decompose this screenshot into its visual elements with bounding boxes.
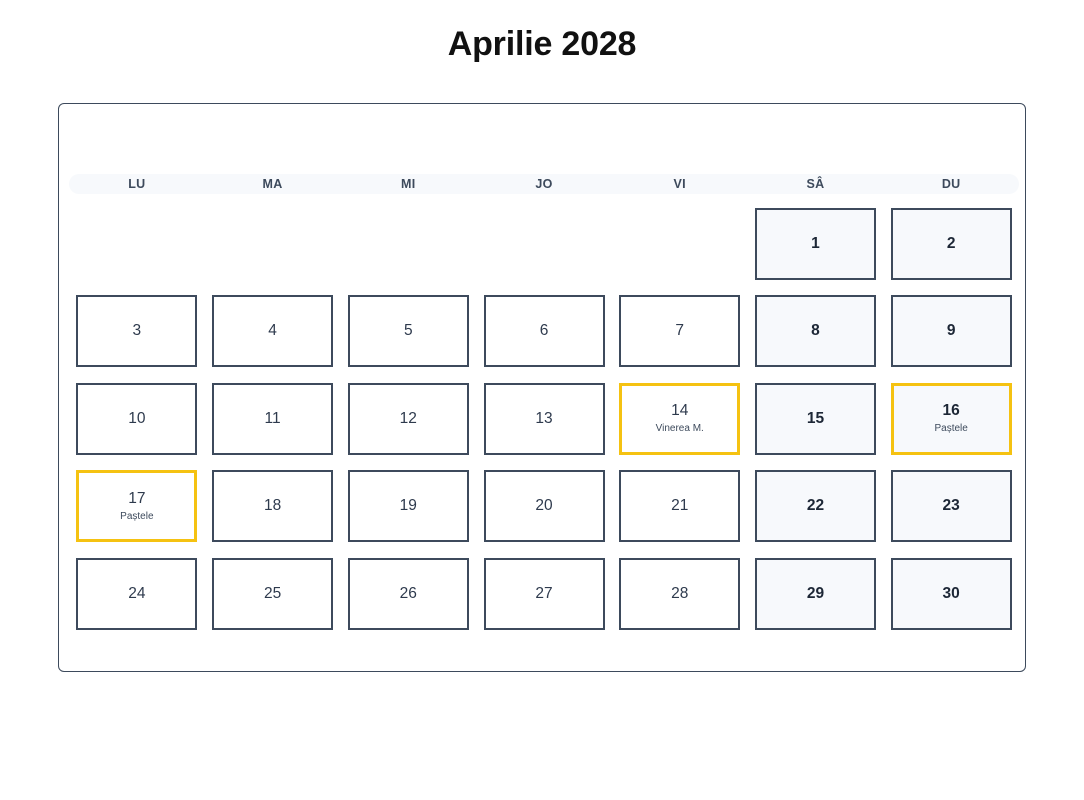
day-cell[interactable]: 5	[348, 295, 469, 367]
day-slot: 1	[748, 200, 884, 288]
day-number: 23	[943, 497, 960, 515]
day-number: 17	[128, 490, 145, 508]
day-slot: 28	[612, 550, 748, 638]
day-slot: 8	[748, 288, 884, 376]
weekday-header-1: MA	[205, 174, 341, 194]
day-cell[interactable]: 21	[619, 470, 740, 542]
day-slot: 9	[883, 288, 1019, 376]
day-cell[interactable]: 27	[484, 558, 605, 630]
day-number: 4	[268, 322, 277, 340]
day-cell[interactable]: 19	[348, 470, 469, 542]
day-number: 3	[133, 322, 142, 340]
day-number: 12	[400, 410, 417, 428]
day-slot: 11	[205, 375, 341, 463]
day-slot: 21	[612, 463, 748, 551]
day-cell[interactable]: 14Vinerea M.	[619, 383, 740, 455]
day-slot: 6	[476, 288, 612, 376]
weekday-header-row: LUMAMIJOVISÂDU	[69, 174, 1019, 194]
week-row: 1011121314Vinerea M.1516Paștele	[69, 375, 1019, 463]
day-number: 10	[128, 410, 145, 428]
day-number: 22	[807, 497, 824, 515]
day-cell[interactable]: 18	[212, 470, 333, 542]
day-number: 19	[400, 497, 417, 515]
day-cell[interactable]: 24	[76, 558, 197, 630]
day-cell[interactable]: 22	[755, 470, 876, 542]
calendar-page: Aprilie 2028 LUMAMIJOVISÂDU 123456789101…	[0, 0, 1084, 800]
day-number: 18	[264, 497, 281, 515]
week-row: 17Paștele181920212223	[69, 463, 1019, 551]
day-cell[interactable]: 28	[619, 558, 740, 630]
day-slot: 16Paștele	[883, 375, 1019, 463]
day-cell[interactable]: 7	[619, 295, 740, 367]
day-cell[interactable]: 9	[891, 295, 1012, 367]
day-slot: 2	[883, 200, 1019, 288]
day-slot: 12	[340, 375, 476, 463]
day-slot: 15	[748, 375, 884, 463]
weekday-header-5: SÂ	[748, 174, 884, 194]
day-number: 26	[400, 585, 417, 603]
weekday-header-0: LU	[69, 174, 205, 194]
day-number: 30	[943, 585, 960, 603]
day-cell[interactable]: 16Paștele	[891, 383, 1012, 455]
day-number: 6	[540, 322, 549, 340]
day-cell[interactable]: 1	[755, 208, 876, 280]
day-cell[interactable]: 3	[76, 295, 197, 367]
day-slot: 5	[340, 288, 476, 376]
day-number: 25	[264, 585, 281, 603]
day-number: 28	[671, 585, 688, 603]
day-cell[interactable]: 2	[891, 208, 1012, 280]
day-cell-empty	[484, 208, 605, 280]
day-cell[interactable]: 30	[891, 558, 1012, 630]
day-cell-empty	[348, 208, 469, 280]
day-number: 15	[807, 410, 824, 428]
day-number: 9	[947, 322, 956, 340]
day-cell[interactable]: 11	[212, 383, 333, 455]
day-cell-empty	[76, 208, 197, 280]
day-cell[interactable]: 29	[755, 558, 876, 630]
day-cell[interactable]: 6	[484, 295, 605, 367]
day-slot: 17Paștele	[69, 463, 205, 551]
day-cell[interactable]: 8	[755, 295, 876, 367]
day-number: 11	[265, 410, 281, 428]
day-slot	[612, 200, 748, 288]
weekday-header-3: JO	[476, 174, 612, 194]
day-cell[interactable]: 25	[212, 558, 333, 630]
day-slot: 14Vinerea M.	[612, 375, 748, 463]
page-title: Aprilie 2028	[0, 22, 1084, 66]
day-number: 24	[128, 585, 145, 603]
week-row: 24252627282930	[69, 550, 1019, 638]
day-slot: 30	[883, 550, 1019, 638]
weekday-header-4: VI	[612, 174, 748, 194]
holiday-label: Paștele	[934, 422, 967, 435]
day-slot: 29	[748, 550, 884, 638]
day-slot: 24	[69, 550, 205, 638]
day-slot	[340, 200, 476, 288]
day-slot: 13	[476, 375, 612, 463]
week-row: 3456789	[69, 288, 1019, 376]
day-cell[interactable]: 10	[76, 383, 197, 455]
day-cell[interactable]: 17Paștele	[76, 470, 197, 542]
day-number: 29	[807, 585, 824, 603]
day-number: 1	[811, 235, 820, 253]
day-slot	[476, 200, 612, 288]
weekday-header-2: MI	[340, 174, 476, 194]
day-slot: 26	[340, 550, 476, 638]
day-cell[interactable]: 20	[484, 470, 605, 542]
day-slot: 20	[476, 463, 612, 551]
day-number: 21	[671, 497, 688, 515]
day-slot: 18	[205, 463, 341, 551]
day-slot: 22	[748, 463, 884, 551]
day-number: 16	[943, 402, 960, 420]
day-slot: 3	[69, 288, 205, 376]
day-cell[interactable]: 23	[891, 470, 1012, 542]
calendar-weeks: 1234567891011121314Vinerea M.1516Paștele…	[69, 200, 1019, 638]
day-slot: 23	[883, 463, 1019, 551]
day-number: 7	[675, 322, 684, 340]
day-number: 14	[671, 402, 688, 420]
day-number: 2	[947, 235, 956, 253]
day-cell[interactable]: 4	[212, 295, 333, 367]
holiday-label: Vinerea M.	[656, 422, 704, 435]
day-cell-empty	[619, 208, 740, 280]
day-cell[interactable]: 12	[348, 383, 469, 455]
calendar-card: LUMAMIJOVISÂDU 1234567891011121314Vinere…	[58, 103, 1026, 672]
week-row: 12	[69, 200, 1019, 288]
day-cell-empty	[212, 208, 333, 280]
day-slot: 27	[476, 550, 612, 638]
holiday-label: Paștele	[120, 510, 153, 523]
weekday-header-6: DU	[883, 174, 1019, 194]
day-number: 5	[404, 322, 413, 340]
day-slot	[205, 200, 341, 288]
day-slot	[69, 200, 205, 288]
day-slot: 25	[205, 550, 341, 638]
day-cell[interactable]: 26	[348, 558, 469, 630]
day-number: 27	[535, 585, 552, 603]
day-number: 8	[811, 322, 820, 340]
day-slot: 10	[69, 375, 205, 463]
day-number: 20	[535, 497, 552, 515]
day-slot: 7	[612, 288, 748, 376]
day-slot: 4	[205, 288, 341, 376]
day-slot: 19	[340, 463, 476, 551]
day-cell[interactable]: 15	[755, 383, 876, 455]
day-cell[interactable]: 13	[484, 383, 605, 455]
day-number: 13	[535, 410, 552, 428]
